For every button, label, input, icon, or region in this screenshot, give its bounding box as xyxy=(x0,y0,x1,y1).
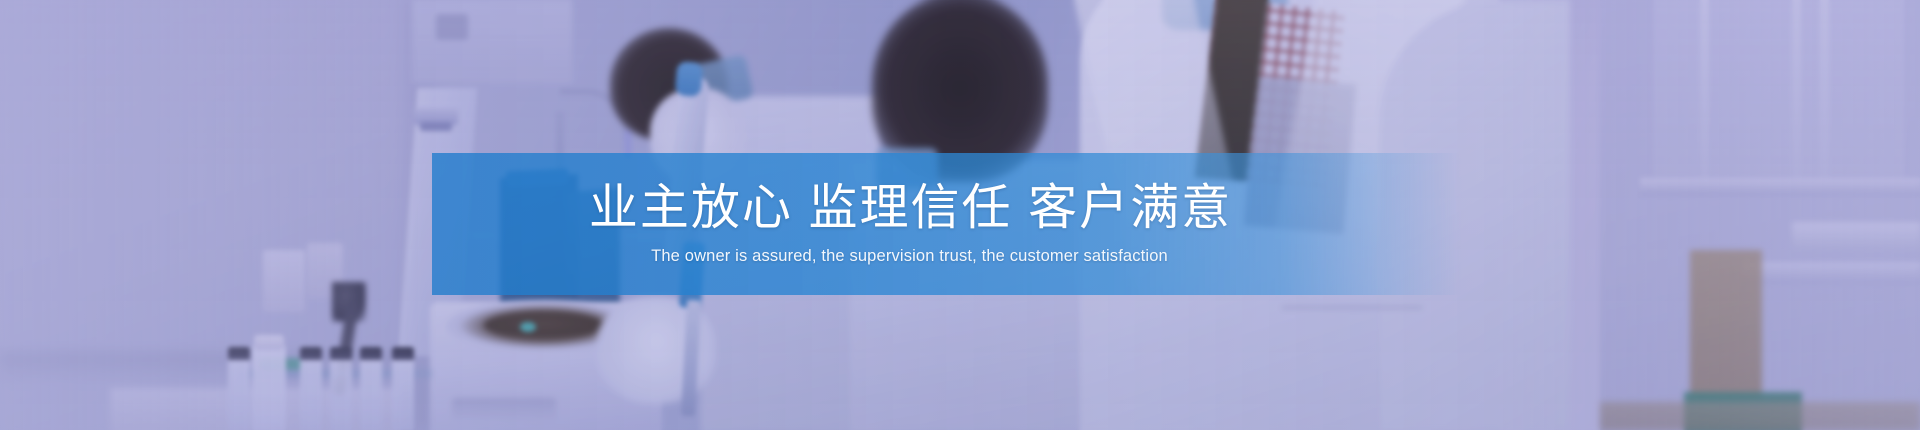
headline-chinese: 业主放心 监理信任 客户满意 xyxy=(589,184,1232,233)
subheadline-english: The owner is assured, the supervision tr… xyxy=(651,248,1168,265)
caption-band-fade xyxy=(1377,153,1461,295)
caption-block: 业主放心 监理信任 客户满意 The owner is assured, the… xyxy=(432,153,1377,295)
hero-banner: 业主放心 监理信任 客户满意 The owner is assured, the… xyxy=(0,0,1920,430)
